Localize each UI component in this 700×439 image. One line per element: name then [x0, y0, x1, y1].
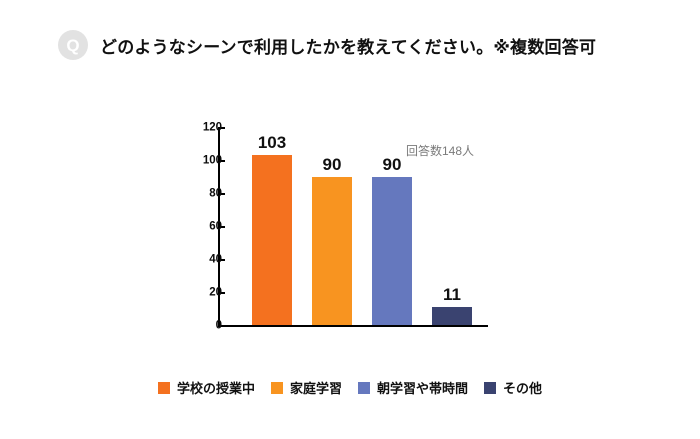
- legend-label-2: 朝学習や帯時間: [377, 378, 468, 397]
- legend-item-1[interactable]: 家庭学習: [271, 378, 342, 397]
- legend-swatch-icon-2: [358, 382, 370, 394]
- legend-item-2[interactable]: 朝学習や帯時間: [358, 378, 468, 397]
- legend-item-0[interactable]: 学校の授業中: [158, 378, 255, 397]
- x-axis-line: [218, 325, 488, 327]
- legend-swatch-icon-3: [484, 382, 496, 394]
- y-axis-label-20: 20: [182, 287, 222, 299]
- y-axis-label-120: 120: [182, 122, 222, 134]
- legend-label-1: 家庭学習: [290, 378, 342, 397]
- legend-item-3[interactable]: その他: [484, 378, 542, 397]
- chart-legend: 学校の授業中 家庭学習 朝学習や帯時間 その他: [0, 378, 700, 397]
- legend-label-3: その他: [503, 378, 542, 397]
- bar-3[interactable]: [432, 307, 472, 325]
- bar-value-1: 90: [302, 156, 362, 173]
- y-axis-label-60: 60: [182, 221, 222, 233]
- legend-swatch-icon-0: [158, 382, 170, 394]
- bar-value-0: 103: [242, 134, 302, 151]
- y-axis-label-40: 40: [182, 254, 222, 266]
- question-title: どのようなシーンで利用したかを教えてください。※複数回答可: [100, 33, 596, 58]
- y-axis-label-100: 100: [182, 155, 222, 167]
- respondent-count-annotation: 回答数148人: [406, 142, 474, 159]
- legend-label-0: 学校の授業中: [177, 378, 255, 397]
- bar-group-1: 90: [302, 127, 362, 325]
- bar-group-0: 103: [242, 127, 302, 325]
- y-axis-label-0: 0: [182, 320, 222, 332]
- bar-0[interactable]: [252, 155, 292, 325]
- bar-1[interactable]: [312, 177, 352, 326]
- y-axis-label-80: 80: [182, 188, 222, 200]
- bar-chart: 120 100 80 60 40 20 0 103 90 90 11: [0, 108, 700, 348]
- chart-plot-container: 120 100 80 60 40 20 0 103 90 90 11: [188, 120, 498, 335]
- bar-2[interactable]: [372, 177, 412, 326]
- bar-value-3: 11: [422, 286, 482, 303]
- legend-swatch-icon-1: [271, 382, 283, 394]
- question-header: Q どのようなシーンで利用したかを教えてください。※複数回答可: [58, 30, 596, 60]
- question-badge-icon: Q: [58, 30, 88, 60]
